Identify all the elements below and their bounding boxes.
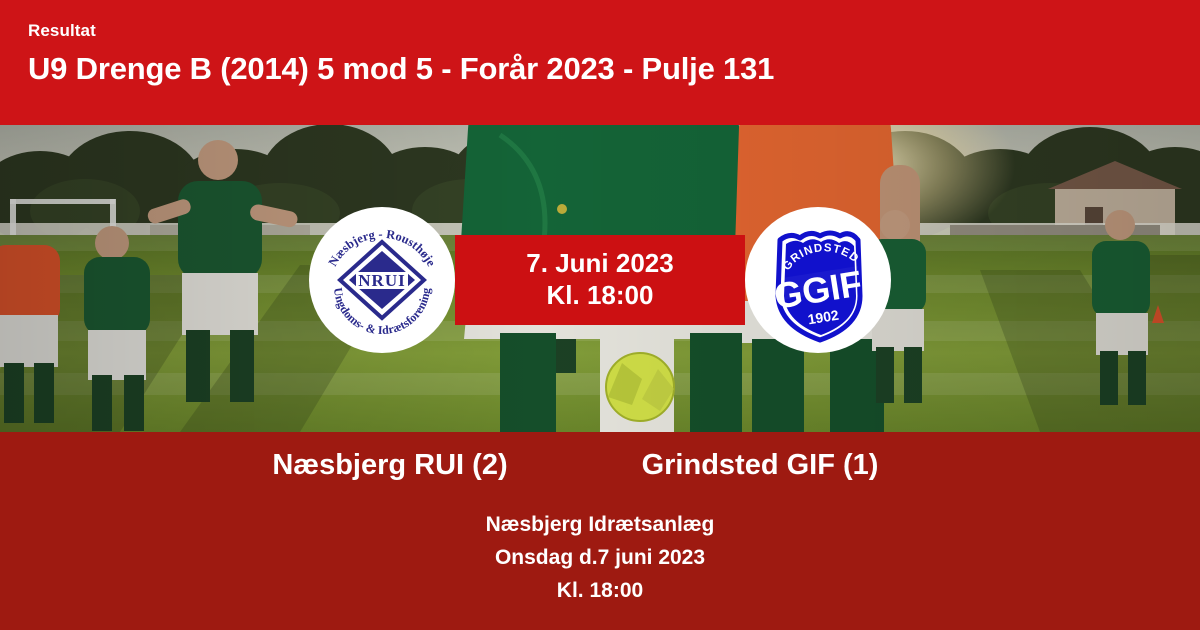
away-team-result: Grindsted GIF (1) xyxy=(320,448,1200,483)
match-result-poster: Resultat U9 Drenge B (2014) 5 mod 5 - Fo… xyxy=(0,0,1200,630)
header-kicker: Resultat xyxy=(28,22,1200,41)
match-detail-time: Kl. 18:00 xyxy=(0,575,1200,608)
poster-header: Resultat U9 Drenge B (2014) 5 mod 5 - Fo… xyxy=(0,0,1200,125)
page-title: U9 Drenge B (2014) 5 mod 5 - Forår 2023 … xyxy=(28,52,1200,86)
ggif-crest-icon: GRINDSTED GGIF 1902 xyxy=(748,210,888,350)
match-time: Kl. 18:00 xyxy=(547,280,654,312)
result-footer: Næsbjerg RUI (2) Grindsted GIF (1) Næsbj… xyxy=(0,432,1200,630)
match-detail-date: Onsdag d.7 juni 2023 xyxy=(0,542,1200,575)
home-club-badge: NRUI Næsbjerg - Rousthøje Ungdoms- & Idr… xyxy=(309,207,455,353)
match-venue: Næsbjerg Idrætsanlæg xyxy=(0,509,1200,542)
svg-text:NRUI: NRUI xyxy=(358,271,405,290)
match-date: 7. Juni 2023 xyxy=(526,248,673,280)
match-date-banner: 7. Juni 2023 Kl. 18:00 xyxy=(455,235,745,325)
match-details: Næsbjerg Idrætsanlæg Onsdag d.7 juni 202… xyxy=(0,509,1200,607)
away-club-badge: GRINDSTED GGIF 1902 xyxy=(745,207,891,353)
team-score-row: Næsbjerg RUI (2) Grindsted GIF (1) xyxy=(0,448,1200,483)
nrui-crest-icon: NRUI Næsbjerg - Rousthøje Ungdoms- & Idr… xyxy=(312,210,452,350)
